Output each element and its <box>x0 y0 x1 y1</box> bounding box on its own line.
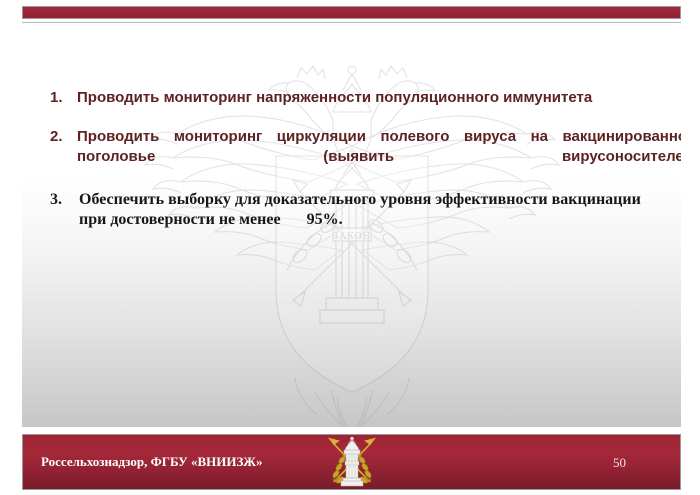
list-item-text: Проводить мониторинг циркуляции полевого… <box>77 127 681 187</box>
list-item-text: Проводить мониторинг напряженности попул… <box>77 88 681 107</box>
slide-page-number: 50 <box>613 455 626 471</box>
list-item-number: 2. <box>50 127 77 147</box>
list-item: 3. Обеспечить выборку для доказательного… <box>50 190 681 250</box>
list-item-text: Обеспечить выборку для доказательного ур… <box>79 190 681 250</box>
list-item-number: 3. <box>50 190 79 210</box>
list-item-text-tail: при достоверности не менее95%. <box>79 210 681 230</box>
top-divider-rule <box>22 22 681 23</box>
confidence-value: 95%. <box>307 211 343 228</box>
list-item-number: 1. <box>50 88 77 107</box>
list-item-text-main: Обеспечить выборку для доказательного ур… <box>79 191 641 208</box>
list-item: 1. Проводить мониторинг напряженности по… <box>50 88 681 107</box>
slide-content-panel: ЗАКОН 1. Проводить мониторинг напряженно… <box>22 24 681 427</box>
slide-footer: Россельхознадзор, ФГБУ «ВНИИЗЖ» <box>22 434 681 490</box>
footer-organization-label: Россельхознадзор, ФГБУ «ВНИИЗЖ» <box>41 454 263 470</box>
rosselkhoznadzor-column-emblem-icon <box>321 436 383 490</box>
slide-canvas: ЗАКОН 1. Проводить мониторинг напряженно… <box>0 0 700 495</box>
top-accent-bar <box>22 6 681 19</box>
list-item: 2. Проводить мониторинг циркуляции полев… <box>50 127 681 187</box>
requirements-list: 1. Проводить мониторинг напряженности по… <box>50 88 681 250</box>
